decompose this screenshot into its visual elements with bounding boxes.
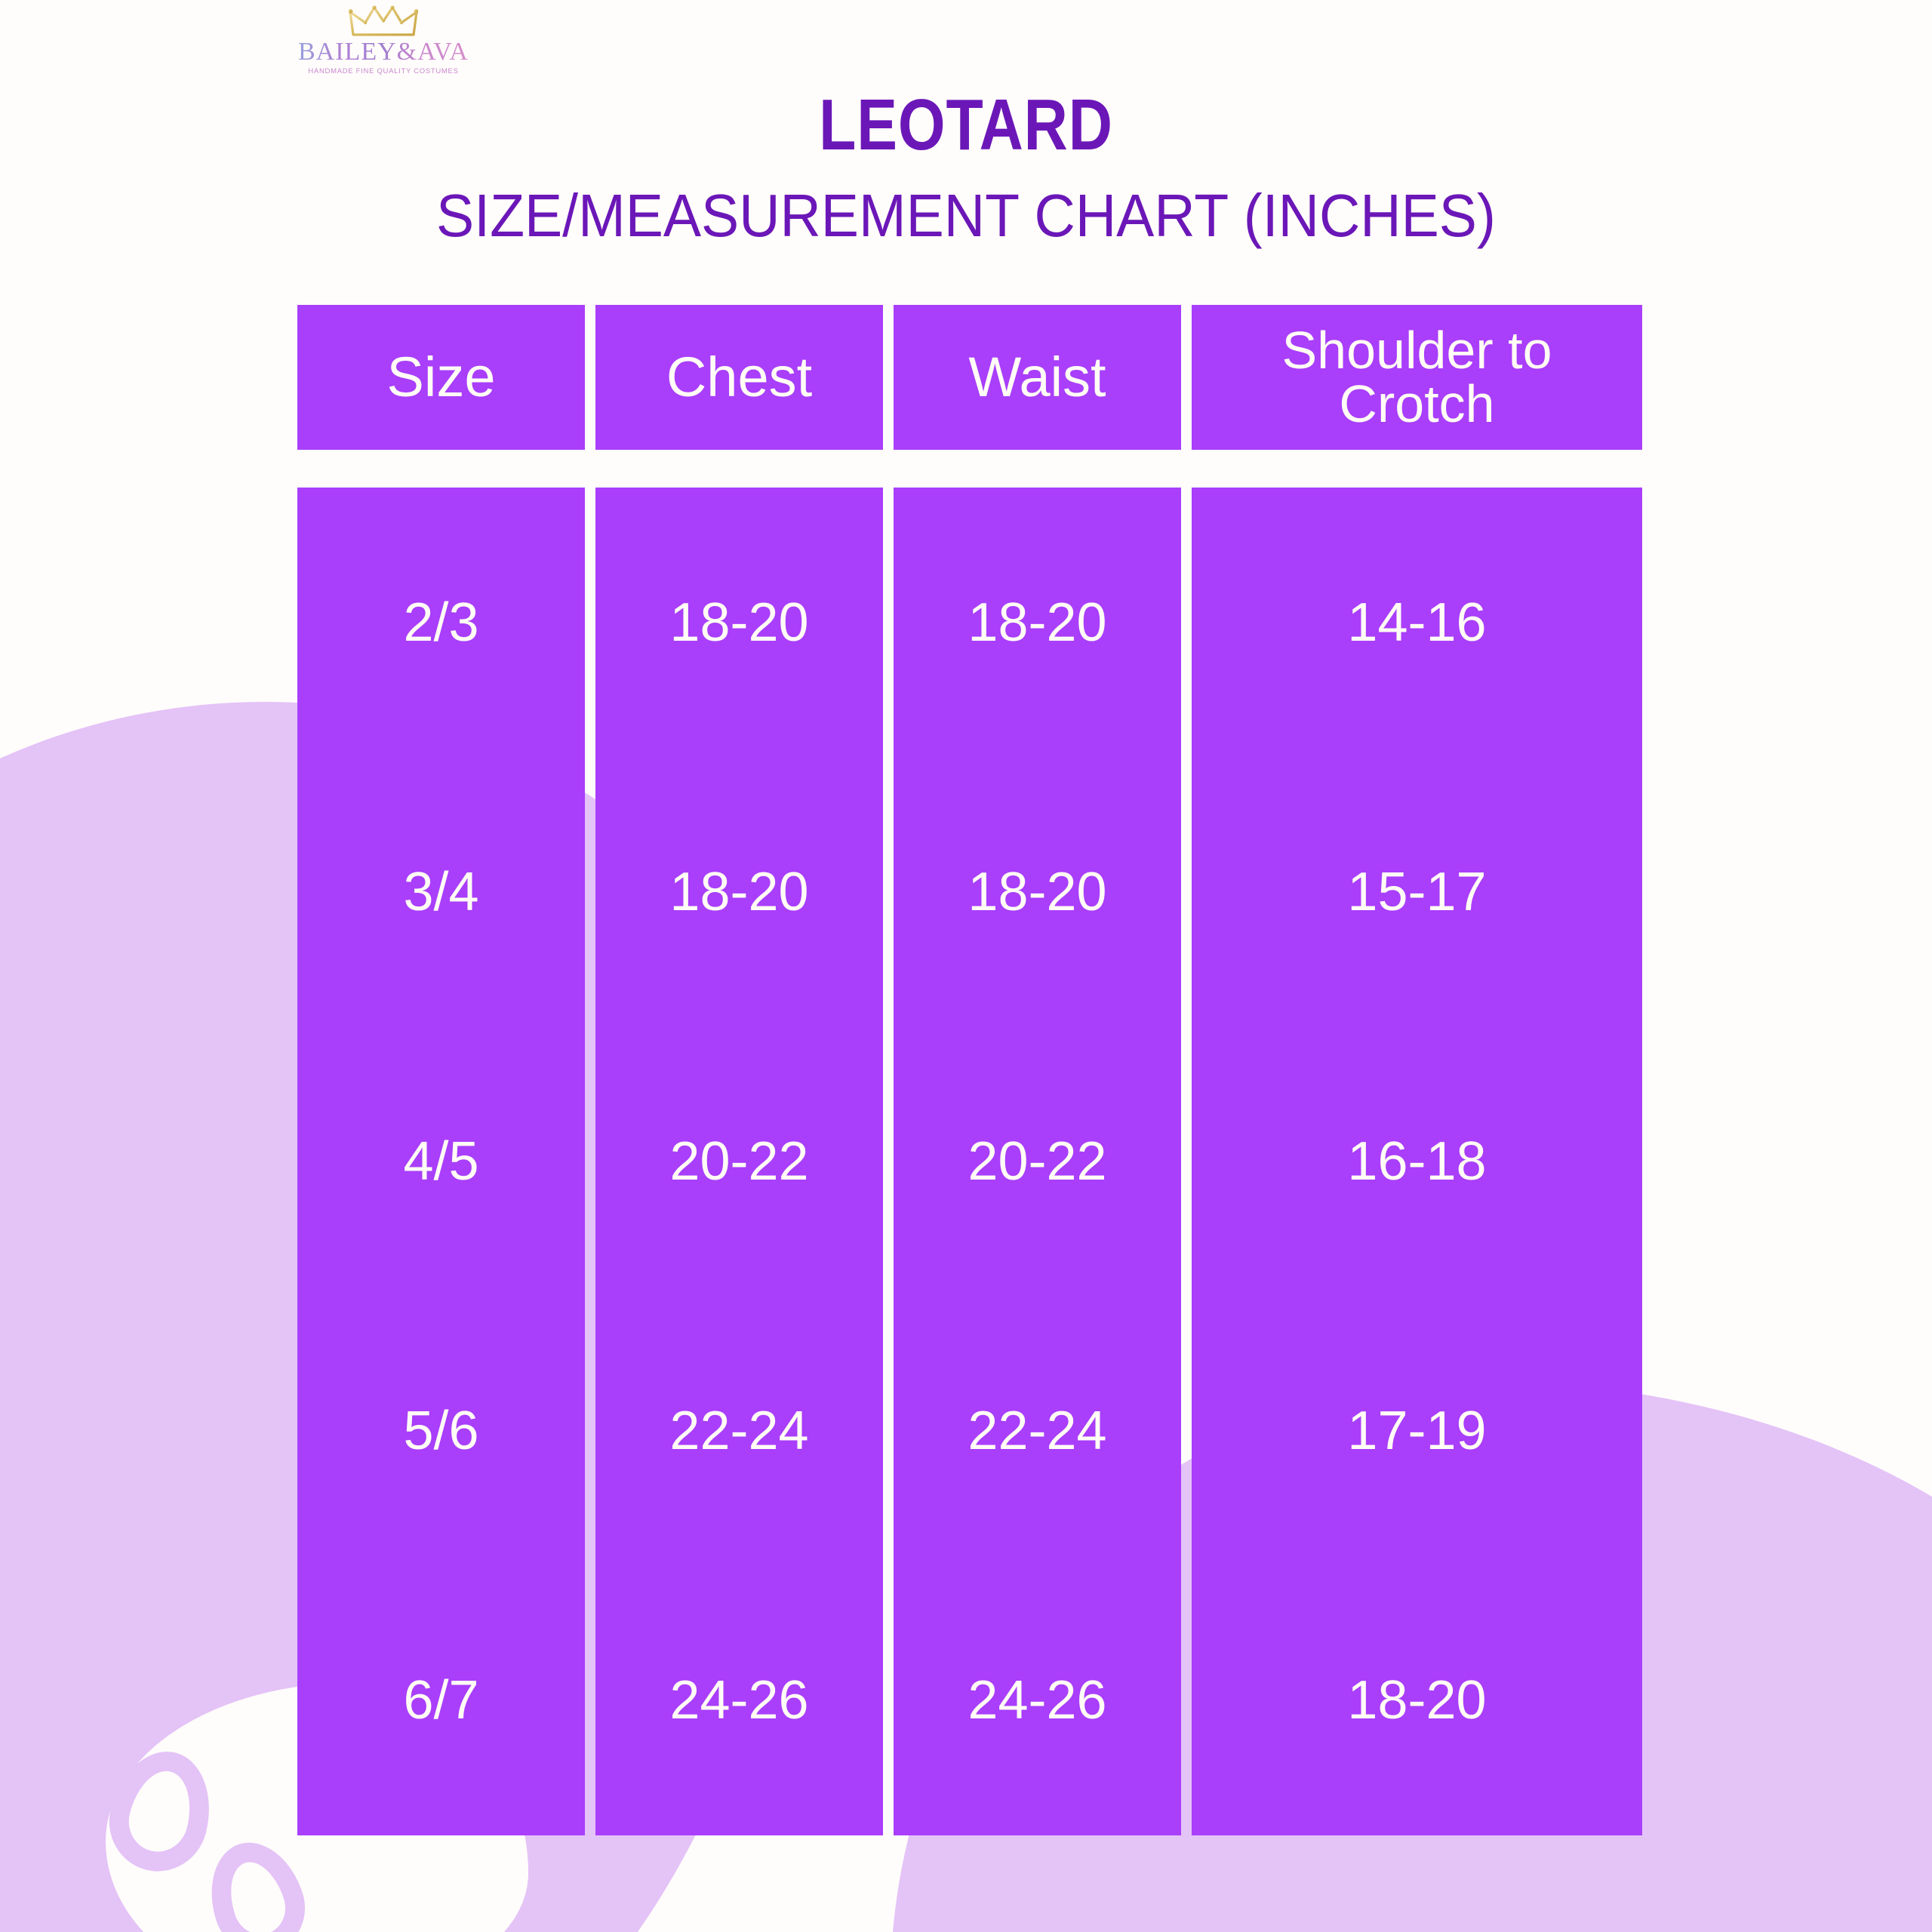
table-cell: 18-20 xyxy=(595,488,883,757)
teardrop-ring-icon xyxy=(99,1741,223,1882)
table-column-shoulder-to-crotch: 14-16 15-17 16-18 17-19 18-20 xyxy=(1192,488,1642,1835)
table-cell: 3/4 xyxy=(297,757,585,1026)
table-header-row: Size Chest Waist Shoulder toCrotch xyxy=(297,305,1642,450)
table-body: 2/3 3/4 4/5 5/6 6/7 18-20 18-20 20-22 22… xyxy=(297,488,1642,1835)
crown-icon xyxy=(285,5,481,39)
title-block: LEOTARD SIZE/MEASUREMENT CHART (INCHES) xyxy=(0,89,1932,246)
brand-name: BAILEY&AVA xyxy=(285,39,481,65)
table-cell: 18-20 xyxy=(894,488,1181,757)
table-cell: 14-16 xyxy=(1192,488,1642,757)
column-gap xyxy=(1181,488,1192,1835)
column-gap xyxy=(883,305,894,450)
column-gap xyxy=(883,488,894,1835)
page-title: LEOTARD xyxy=(155,89,1777,162)
table-column-waist: 18-20 18-20 20-22 22-24 24-26 xyxy=(894,488,1181,1835)
table-column-chest: 18-20 18-20 20-22 22-24 24-26 xyxy=(595,488,883,1835)
table-cell: 20-22 xyxy=(894,1026,1181,1296)
page-subtitle: SIZE/MEASUREMENT CHART (INCHES) xyxy=(58,186,1874,246)
table-cell: 20-22 xyxy=(595,1026,883,1296)
table-cell: 18-20 xyxy=(595,757,883,1026)
column-gap xyxy=(585,488,595,1835)
table-column-size: 2/3 3/4 4/5 5/6 6/7 xyxy=(297,488,585,1835)
table-cell: 4/5 xyxy=(297,1026,585,1296)
column-header-waist: Waist xyxy=(894,305,1181,450)
table-cell: 24-26 xyxy=(595,1566,883,1835)
column-gap xyxy=(1181,305,1192,450)
column-gap xyxy=(585,305,595,450)
table-cell: 24-26 xyxy=(894,1566,1181,1835)
table-cell: 5/6 xyxy=(297,1297,585,1566)
table-cell: 2/3 xyxy=(297,488,585,757)
table-cell: 6/7 xyxy=(297,1566,585,1835)
table-cell: 15-17 xyxy=(1192,757,1642,1026)
column-header-chest: Chest xyxy=(595,305,883,450)
table-cell: 16-18 xyxy=(1192,1026,1642,1296)
teardrop-ring-icon xyxy=(196,1830,317,1932)
table-cell: 17-19 xyxy=(1192,1297,1642,1566)
brand-tagline: HANDMADE FINE QUALITY COSTUMES xyxy=(285,68,481,75)
size-chart-page: BAILEY&AVA HANDMADE FINE QUALITY COSTUME… xyxy=(0,0,1932,1932)
column-header-shoulder-to-crotch: Shoulder toCrotch xyxy=(1192,305,1642,450)
brand-logo: BAILEY&AVA HANDMADE FINE QUALITY COSTUME… xyxy=(285,5,481,75)
size-chart-table: Size Chest Waist Shoulder toCrotch 2/3 3… xyxy=(297,305,1642,1835)
table-cell: 22-24 xyxy=(894,1297,1181,1566)
table-cell: 22-24 xyxy=(595,1297,883,1566)
table-cell: 18-20 xyxy=(894,757,1181,1026)
table-cell: 18-20 xyxy=(1192,1566,1642,1835)
column-header-size: Size xyxy=(297,305,585,450)
